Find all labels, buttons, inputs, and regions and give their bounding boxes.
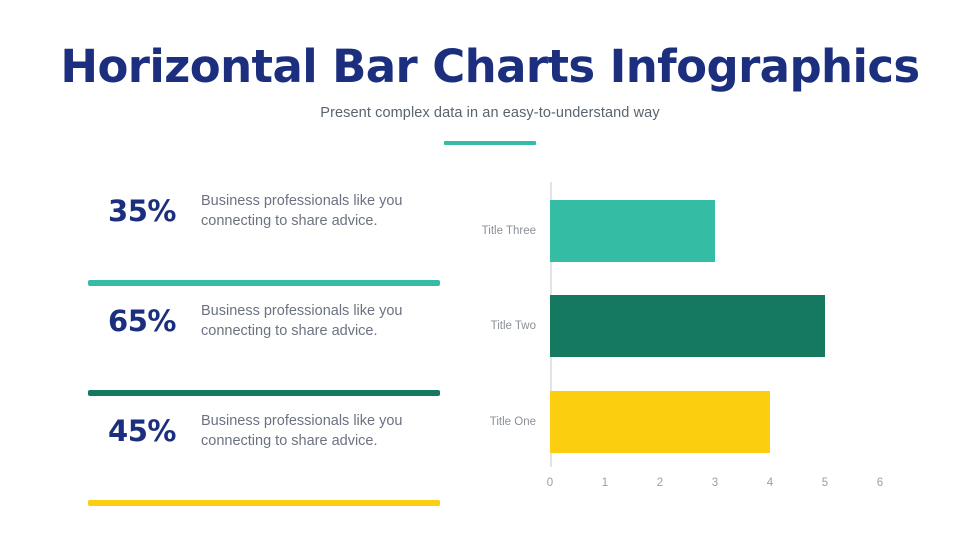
bar-track: Title Two [550, 295, 825, 357]
page-title: Horizontal Bar Charts Infographics [0, 0, 980, 95]
stat-description: Business professionals like you connecti… [196, 411, 440, 451]
x-axis-tick: 3 [712, 477, 718, 489]
stat-underline-bar [88, 500, 440, 506]
page-subtitle: Present complex data in an easy-to-under… [0, 95, 980, 123]
stat-row: 45% Business professionals like you conn… [88, 400, 440, 462]
bar-track: Title One [550, 391, 770, 453]
title-divider [444, 141, 536, 145]
x-axis-tick: 2 [657, 477, 663, 489]
stat-description: Business professionals like you connecti… [196, 301, 440, 341]
stat-block: 45% Business professionals like you conn… [88, 400, 440, 510]
bar-title-one[interactable] [550, 391, 770, 453]
chart-plot-area: Title Three Title Two Title One 0123456 [550, 182, 880, 467]
stat-underline-bar [88, 280, 440, 286]
stats-column: 35% Business professionals like you conn… [88, 180, 440, 510]
x-axis-tick: 0 [547, 477, 553, 489]
horizontal-bar-chart: Title Three Title Two Title One 0123456 [470, 182, 900, 492]
category-label: Title Three [482, 225, 536, 237]
header: Horizontal Bar Charts Infographics Prese… [0, 0, 980, 145]
stat-description: Business professionals like you connecti… [196, 191, 440, 231]
x-axis-tick: 4 [767, 477, 773, 489]
stat-percent: 65% [88, 304, 196, 338]
stat-percent: 35% [88, 194, 196, 228]
x-axis-tick: 5 [822, 477, 828, 489]
x-axis-tick: 6 [877, 477, 883, 489]
x-axis-tick: 1 [602, 477, 608, 489]
bar-title-three[interactable] [550, 200, 715, 262]
stat-block: 65% Business professionals like you conn… [88, 290, 440, 400]
stat-block: 35% Business professionals like you conn… [88, 180, 440, 290]
stat-row: 35% Business professionals like you conn… [88, 180, 440, 242]
stat-underline-bar [88, 390, 440, 396]
category-label: Title Two [491, 320, 536, 332]
category-label: Title One [490, 416, 536, 428]
bar-title-two[interactable] [550, 295, 825, 357]
bar-track: Title Three [550, 200, 715, 262]
x-axis: 0123456 [550, 467, 880, 497]
stat-row: 65% Business professionals like you conn… [88, 290, 440, 352]
stat-percent: 45% [88, 414, 196, 448]
